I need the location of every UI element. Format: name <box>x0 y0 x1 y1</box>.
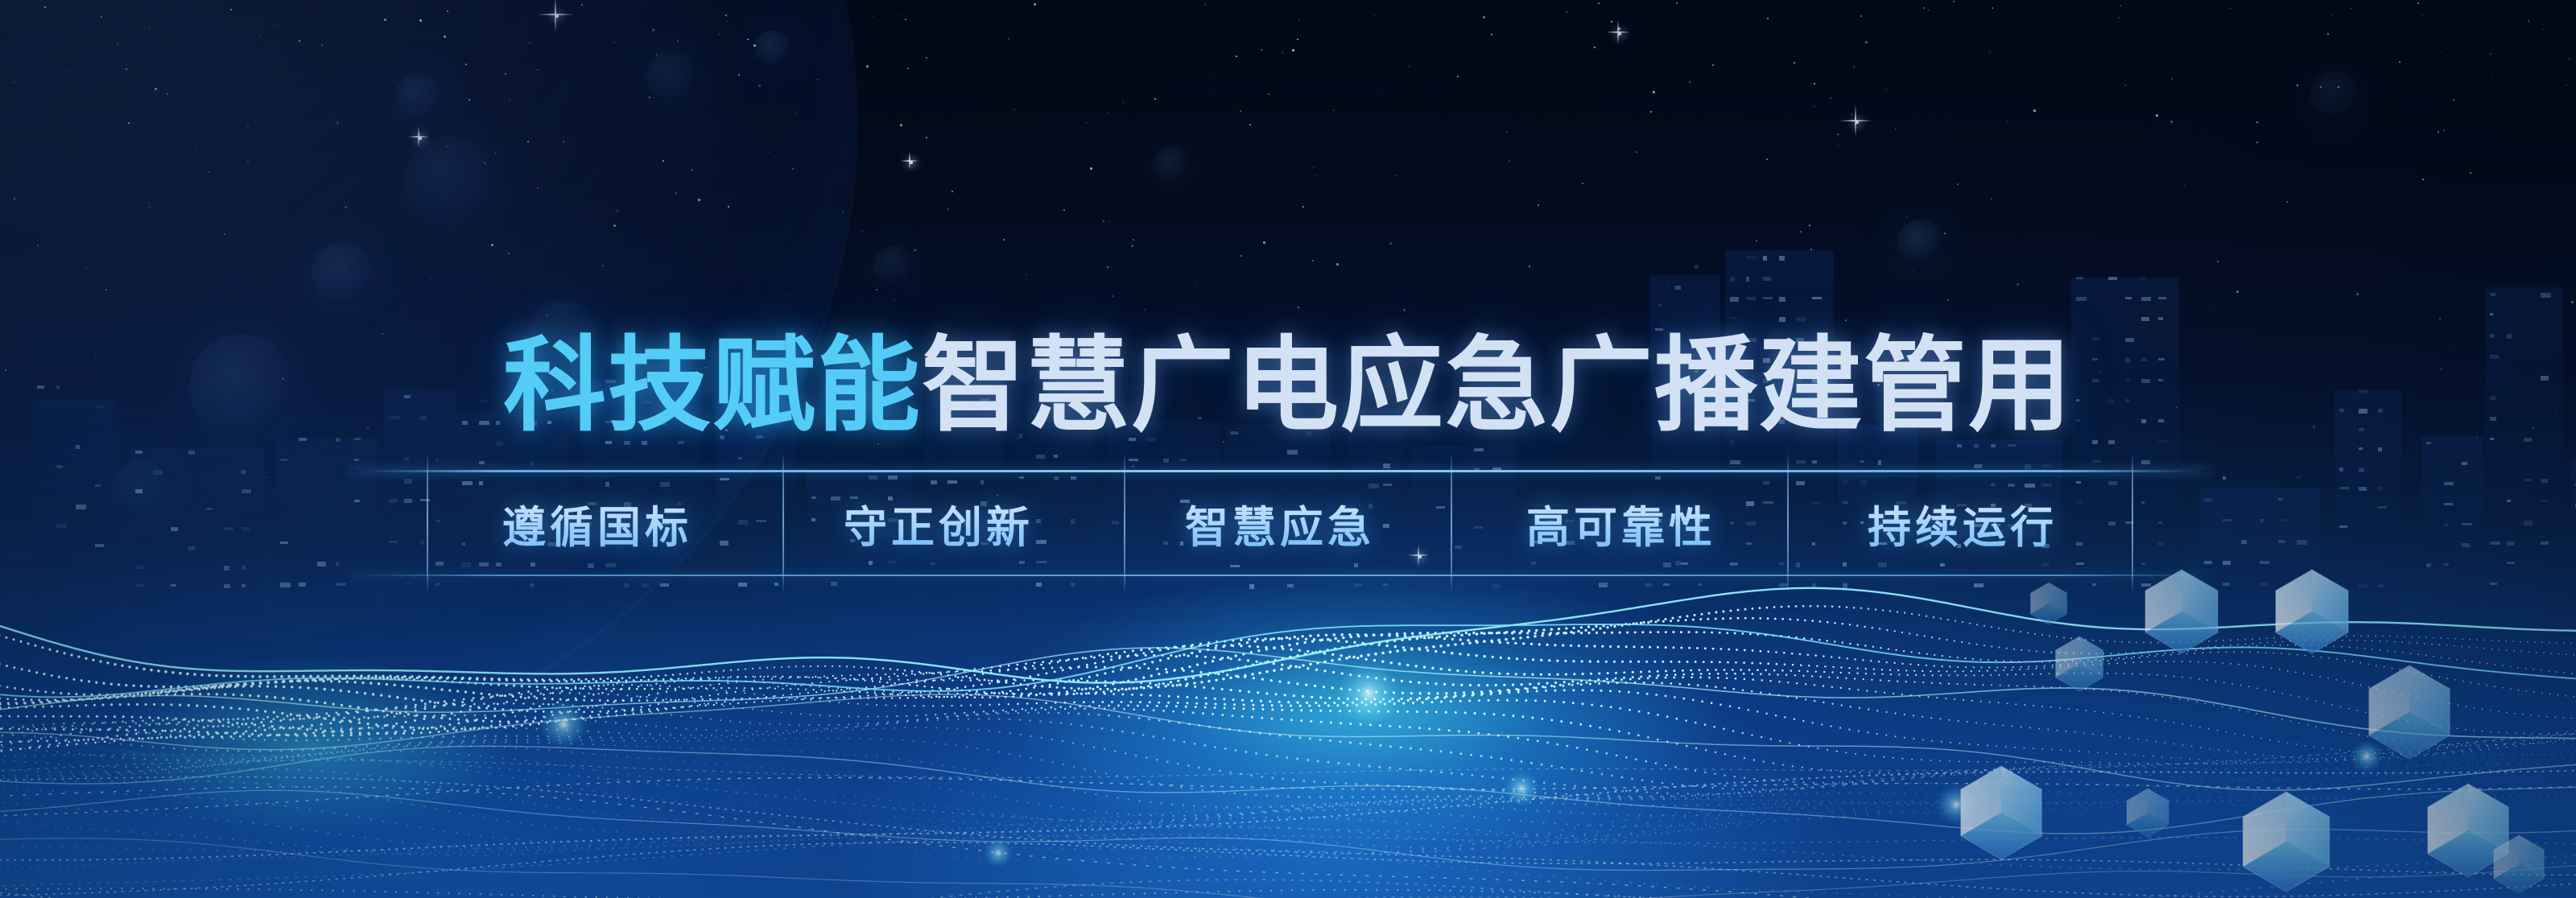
star <box>2443 130 2445 131</box>
star <box>2156 114 2158 117</box>
hex-outline <box>2369 665 2450 759</box>
star <box>1690 84 1691 84</box>
hex-cube <box>2048 632 2111 695</box>
star <box>1506 131 1508 133</box>
star <box>1483 16 1485 19</box>
star <box>2556 515 2557 517</box>
star <box>1991 198 1992 200</box>
star <box>1190 172 1191 173</box>
star <box>900 124 902 126</box>
building-window <box>2278 519 2287 521</box>
wave-streamer <box>0 888 2576 898</box>
star <box>1865 41 1868 43</box>
star <box>862 231 863 232</box>
hex-cube <box>2417 780 2519 881</box>
star <box>1598 2 1600 4</box>
hex-face-right <box>2494 864 2544 893</box>
star <box>2286 201 2288 203</box>
star <box>1383 91 1384 92</box>
star <box>1944 233 1946 234</box>
hex-face-left <box>2276 570 2312 632</box>
hex-face-right <box>2030 603 2066 624</box>
star <box>1969 232 1970 233</box>
hex-face-left <box>2243 792 2286 867</box>
star <box>2351 8 2351 9</box>
star <box>1249 124 1251 126</box>
wave-streamer <box>0 834 2576 898</box>
star <box>1712 64 1714 66</box>
wave-dot-row <box>0 758 2574 827</box>
star <box>1650 111 1652 113</box>
wave-node-flare <box>1336 661 1401 726</box>
hex-cube <box>2266 566 2358 657</box>
feature-item-list: 遵循国标 守正创新 智慧应急 高可靠性 持续运行 <box>427 470 2133 576</box>
wave-node-flare <box>2351 740 2383 772</box>
star <box>1063 209 1065 211</box>
hex-face-left <box>2145 570 2182 632</box>
hex-face-right <box>2243 842 2329 892</box>
star <box>2320 86 2322 88</box>
building-window <box>2490 583 2497 585</box>
hex-outline <box>2127 789 2169 837</box>
feature-item-0[interactable]: 遵循国标 <box>427 492 768 555</box>
star <box>872 15 873 17</box>
bokeh-light <box>2310 71 2359 119</box>
star <box>1566 11 1567 13</box>
building-window <box>738 583 747 587</box>
wave-streamer <box>0 776 2576 896</box>
hex-face-top <box>2049 583 2067 614</box>
star <box>1992 7 1993 9</box>
star <box>2543 29 2544 30</box>
star <box>2492 74 2493 75</box>
hex-face-top <box>2286 792 2330 867</box>
star <box>2332 14 2333 15</box>
star <box>2006 121 2008 122</box>
star <box>2438 182 2439 183</box>
star <box>1108 112 1108 113</box>
wave-streamer <box>0 797 2576 871</box>
star <box>1209 89 1210 90</box>
star <box>1108 220 1109 221</box>
star <box>1953 1 1955 2</box>
title-plain-text: 智慧广电应急广播建管用 <box>922 326 2073 446</box>
wave-streamer <box>0 862 2576 898</box>
star <box>2497 74 2498 75</box>
wave-streamer <box>0 770 2576 860</box>
star <box>907 68 909 69</box>
building-window <box>2141 562 2145 565</box>
feature-item-3[interactable]: 高可靠性 <box>1451 492 1792 555</box>
wave-streamer <box>0 755 2576 870</box>
star <box>2256 122 2258 123</box>
building-window <box>660 583 669 587</box>
wave-dot-row <box>0 734 2574 799</box>
building-window <box>2490 542 2500 545</box>
feature-item-4[interactable]: 持续运行 <box>1792 492 2133 555</box>
building-window <box>1974 583 1984 587</box>
star <box>2422 14 2423 15</box>
star <box>2256 237 2256 237</box>
hex-face-top <box>2312 570 2348 632</box>
star <box>1396 175 1397 176</box>
star <box>1856 121 1859 124</box>
hex-face-left <box>1961 766 2001 836</box>
building-window <box>2158 542 2163 546</box>
wave-dot-row <box>0 768 2576 837</box>
star-sparkle <box>1839 105 1872 137</box>
star <box>1582 183 1583 184</box>
building-window <box>2507 562 2515 564</box>
building-window <box>1599 583 1608 587</box>
star <box>2441 52 2442 53</box>
star <box>1389 242 1392 245</box>
star <box>2574 222 2574 223</box>
hex-outline <box>2428 784 2508 877</box>
star <box>914 249 916 251</box>
star <box>1111 187 1112 187</box>
star <box>1122 99 1123 100</box>
hex-outline <box>1961 766 2041 859</box>
building-window <box>2260 519 2264 522</box>
star <box>2470 172 2471 174</box>
star <box>2528 20 2529 22</box>
star <box>1313 167 1315 168</box>
building-window <box>2092 583 2096 586</box>
building-window <box>2141 583 2151 587</box>
building-window <box>2158 521 2162 524</box>
star <box>1008 38 1009 39</box>
star <box>2297 84 2298 86</box>
star <box>1315 175 1315 176</box>
building-window <box>1036 583 1042 587</box>
star <box>2380 205 2381 206</box>
feature-item-1[interactable]: 守正创新 <box>768 492 1109 555</box>
star <box>2124 84 2126 86</box>
star <box>1457 76 1459 77</box>
star <box>901 15 902 16</box>
title-accent-text: 科技赋能 <box>503 326 922 446</box>
wave-streamer <box>0 879 2576 898</box>
star <box>1906 216 1908 218</box>
wave-streamer <box>0 842 2576 896</box>
hex-face-top <box>2148 789 2169 825</box>
hex-face-right <box>2369 712 2450 759</box>
hex-cube <box>1951 762 2052 863</box>
feature-bar: 遵循国标 守正创新 智慧应急 高可靠性 持续运行 <box>427 470 2133 576</box>
wave-streamer <box>0 834 2576 886</box>
star <box>1131 245 1133 247</box>
building-window <box>2541 542 2549 545</box>
building-window <box>1645 583 1653 587</box>
hex-face-top <box>2182 570 2218 632</box>
hex-cube <box>2136 566 2227 657</box>
star <box>1086 122 1087 123</box>
hex-outline <box>2056 636 2103 691</box>
bokeh-light <box>1153 146 1190 183</box>
star <box>1003 239 1005 241</box>
wave-dot-row <box>0 801 2576 853</box>
star <box>1923 7 1925 9</box>
star <box>1204 4 1206 6</box>
wave-streamer <box>0 787 2576 898</box>
star <box>1809 224 1810 226</box>
wave-streamer <box>0 892 2576 898</box>
building-window <box>831 582 837 586</box>
hex-face-top <box>2079 636 2103 678</box>
hex-face-top <box>2409 665 2450 735</box>
star <box>2171 78 2173 80</box>
star <box>1618 27 1620 30</box>
star <box>2306 40 2307 41</box>
building-window <box>2444 523 2448 526</box>
wave-crest-line <box>0 746 2576 834</box>
building-window <box>2359 584 2368 587</box>
star <box>1333 109 1335 111</box>
star <box>1382 158 1383 159</box>
star <box>1298 20 1299 21</box>
wave-node-flare <box>539 700 588 748</box>
hex-face-left <box>2369 665 2409 735</box>
star <box>1509 160 1510 162</box>
star <box>1853 66 1855 68</box>
star <box>1865 173 1866 174</box>
star <box>1594 47 1596 48</box>
wave-dot-row <box>0 807 2576 861</box>
star <box>1133 239 1134 241</box>
feature-item-2[interactable]: 智慧应急 <box>1109 492 1451 555</box>
star <box>1860 15 1862 17</box>
star <box>2259 226 2260 227</box>
hex-face-left <box>2494 835 2519 879</box>
hex-face-right <box>2127 813 2169 837</box>
star <box>2338 86 2339 88</box>
wave-streamer <box>0 732 2576 777</box>
building-window <box>1354 583 1362 587</box>
star <box>1653 91 1655 93</box>
star <box>1838 145 1839 146</box>
star <box>1374 14 1375 15</box>
star <box>1928 10 1929 10</box>
star <box>1611 21 1612 23</box>
building-window <box>2378 584 2384 587</box>
star <box>866 65 869 68</box>
star <box>1103 220 1104 222</box>
building-window <box>2524 521 2533 525</box>
building-window <box>2260 583 2267 586</box>
hex-outline <box>2145 570 2218 653</box>
wave-dot-row <box>0 750 2576 822</box>
star <box>1814 105 1815 107</box>
star <box>2438 131 2439 133</box>
star <box>1767 18 1769 19</box>
star <box>1240 110 1241 112</box>
page-title: 科技赋能智慧广电应急广播建管用 <box>503 328 2073 443</box>
star <box>1034 3 1036 6</box>
star <box>1263 241 1265 244</box>
star <box>1491 34 1492 35</box>
wave-node-flare <box>1935 784 1977 826</box>
building-window <box>2339 525 2347 528</box>
star <box>925 163 926 164</box>
star <box>1895 129 1896 130</box>
star <box>2490 53 2491 55</box>
building-window <box>2462 523 2472 525</box>
hex-outline <box>2243 792 2329 892</box>
star <box>1676 2 1678 4</box>
star <box>1602 233 1603 233</box>
building-window <box>1843 583 1847 588</box>
star <box>1154 98 1156 100</box>
star <box>2417 2 2419 4</box>
star <box>1636 151 1637 153</box>
hex-outline <box>2276 570 2348 653</box>
hex-face-right <box>2428 830 2508 877</box>
hex-face-top <box>2468 784 2508 854</box>
building-window <box>2297 540 2307 545</box>
star <box>2170 121 2173 123</box>
star <box>1794 62 1795 64</box>
star <box>1292 49 1294 51</box>
building-window <box>2278 540 2285 543</box>
star <box>2453 99 2454 101</box>
building-window <box>2223 583 2230 586</box>
star <box>2118 17 2120 19</box>
hex-cube <box>2359 661 2460 763</box>
building-window <box>2241 540 2247 544</box>
star <box>1268 93 1269 95</box>
star <box>2399 61 2401 63</box>
star <box>1810 249 1812 250</box>
building-window <box>2444 563 2449 566</box>
wave-node-flare <box>984 838 1013 867</box>
building-window <box>1663 583 1670 586</box>
star <box>1766 159 1768 160</box>
star <box>1302 206 1304 208</box>
star <box>2422 179 2424 180</box>
star <box>1236 56 1237 57</box>
star <box>1013 109 1015 110</box>
star <box>1271 49 1272 50</box>
star <box>1814 83 1815 84</box>
star-sparkle <box>1606 20 1630 44</box>
star <box>1886 89 1887 90</box>
building-window <box>2260 561 2269 564</box>
star <box>1261 49 1262 51</box>
building-window <box>1071 583 1075 587</box>
star <box>1590 4 1591 5</box>
star <box>2230 8 2231 9</box>
star <box>926 137 927 138</box>
star <box>2160 126 2161 127</box>
star <box>1635 242 1636 243</box>
wave-dot-row <box>0 741 2576 808</box>
building-window <box>2462 543 2470 547</box>
star <box>1851 113 1852 115</box>
star <box>1282 52 1283 53</box>
building-window <box>2507 542 2514 546</box>
star <box>2327 33 2329 35</box>
hex-face-right <box>2276 612 2348 653</box>
star <box>1756 240 1757 241</box>
hex-face-right <box>2056 664 2103 691</box>
building-window <box>1812 583 1816 588</box>
star <box>1090 167 1092 170</box>
star <box>1123 101 1124 102</box>
star <box>1431 114 1432 115</box>
hex-face-left <box>2056 636 2079 678</box>
wave-crest-line <box>0 790 2576 870</box>
building-window <box>1383 583 1388 586</box>
star <box>1989 51 1991 52</box>
hero-banner: 科技赋能智慧广电应急广播建管用 遵循国标 守正创新 智慧应急 高可靠性 持续运行 <box>0 0 2576 898</box>
star <box>1241 255 1242 257</box>
star <box>1957 183 1959 185</box>
building-window <box>1698 583 1702 586</box>
star <box>1194 38 1195 39</box>
star <box>947 208 949 210</box>
wave-crest-line <box>0 838 2576 898</box>
star <box>2033 109 2036 112</box>
wave-dot-row <box>0 780 2575 844</box>
building-window <box>774 583 778 586</box>
star <box>1618 32 1621 35</box>
building-window <box>1249 584 1254 589</box>
hex-cube <box>2232 788 2340 896</box>
hex-face-top <box>2001 766 2041 836</box>
hex-face-right <box>2145 612 2218 653</box>
star <box>2549 68 2549 69</box>
hex-face-top <box>2519 835 2544 879</box>
building-window <box>2204 561 2212 564</box>
bokeh-light <box>1898 220 1942 263</box>
star <box>2184 185 2186 187</box>
star-sparkle <box>901 152 919 170</box>
hex-cube <box>2024 579 2074 628</box>
hex-outline <box>2494 835 2544 893</box>
wave-dot-row <box>0 788 2573 850</box>
hex-face-left <box>2030 583 2049 614</box>
hex-cube <box>2120 785 2176 841</box>
building-window <box>2223 519 2232 521</box>
star <box>1211 72 1212 73</box>
building-window <box>2223 561 2231 565</box>
star <box>1538 204 1539 206</box>
star <box>1689 81 1690 83</box>
star <box>2395 62 2396 63</box>
star <box>1800 231 1802 233</box>
star <box>905 19 906 20</box>
star <box>2566 84 2567 85</box>
building-window <box>2426 563 2431 567</box>
star <box>952 191 953 192</box>
star <box>1847 249 1848 249</box>
star <box>1848 213 1849 214</box>
star <box>1837 134 1839 135</box>
star <box>2256 142 2258 143</box>
hex-cube <box>2486 831 2552 897</box>
hex-face-left <box>2127 789 2148 825</box>
star <box>2070 166 2071 167</box>
hex-outline <box>2031 583 2067 624</box>
star <box>1409 66 1410 67</box>
star <box>1830 97 1831 99</box>
building-window <box>1492 584 1500 588</box>
star <box>1297 39 1298 40</box>
star <box>926 57 927 59</box>
wave-node-flare <box>1504 771 1539 806</box>
building-window <box>1287 584 1294 587</box>
